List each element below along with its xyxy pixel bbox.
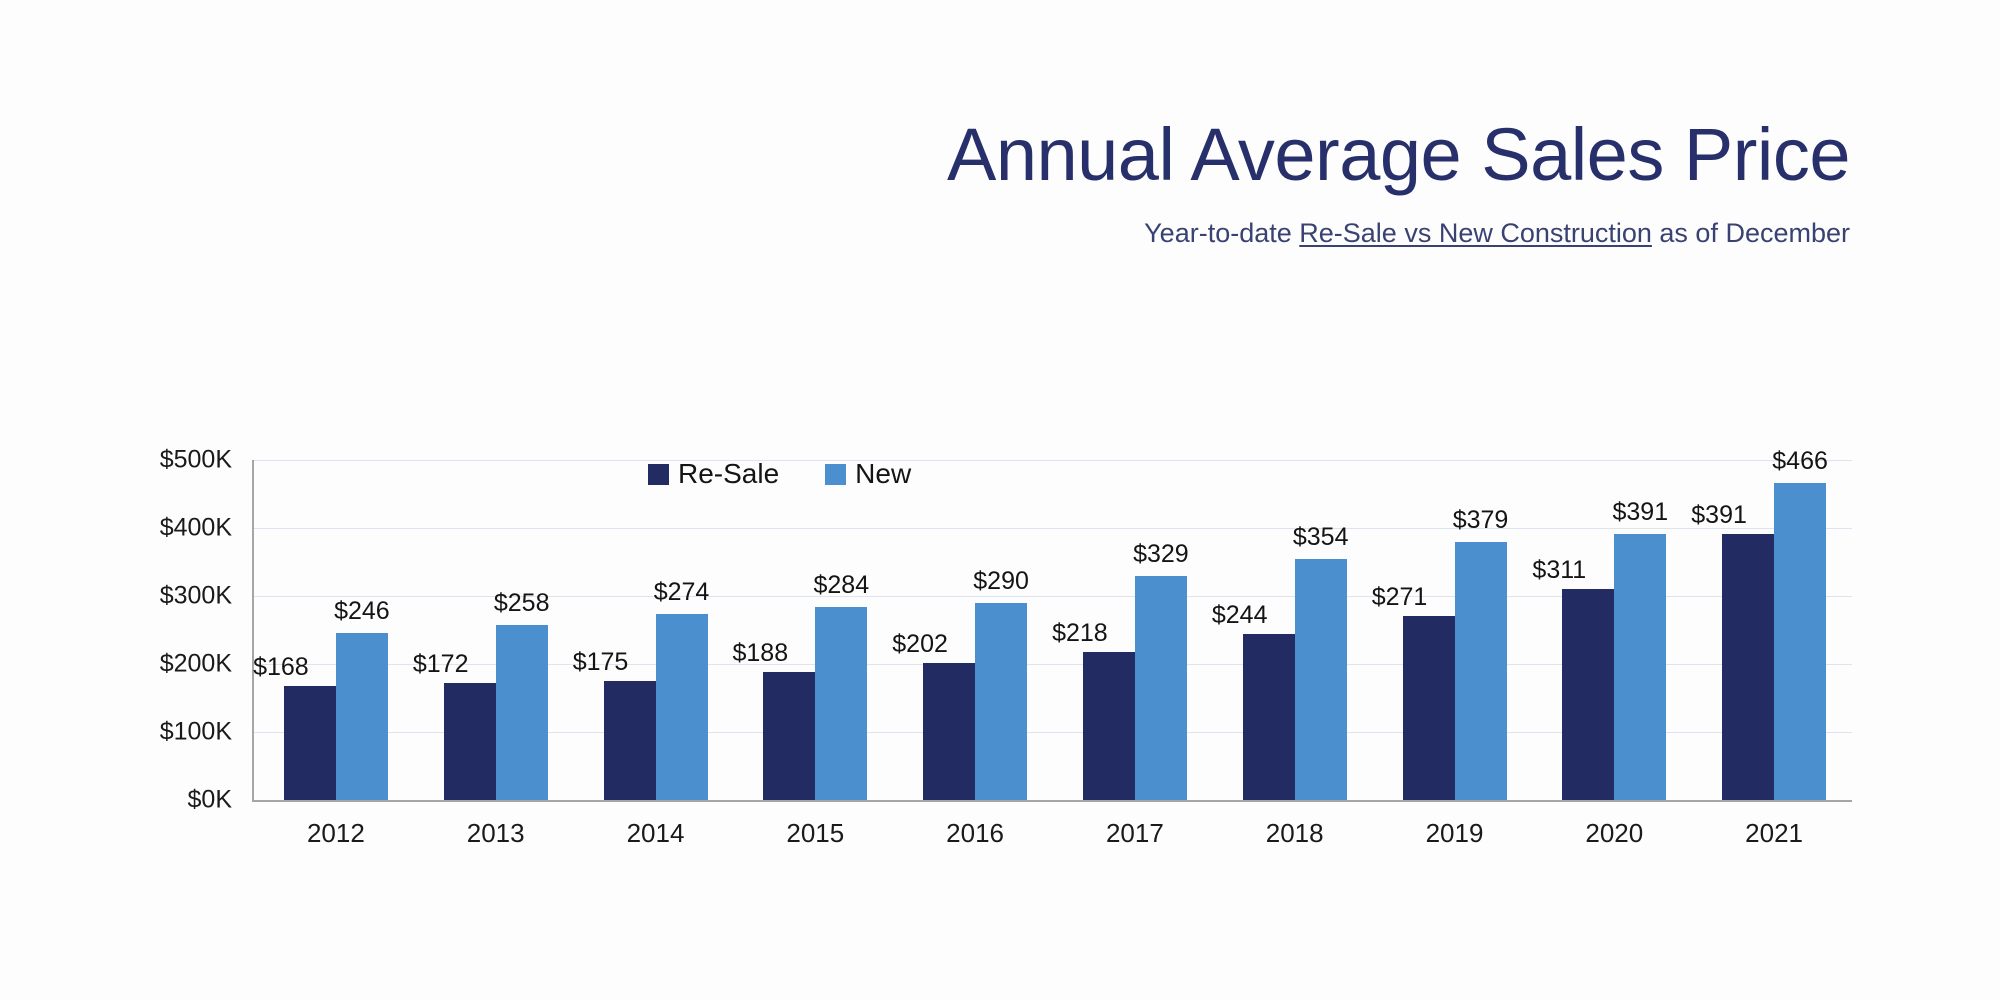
bar-group xyxy=(763,460,867,800)
bar-new[interactable] xyxy=(1614,534,1666,800)
bar-resale[interactable] xyxy=(444,683,496,800)
bar-value-label-resale: $172 xyxy=(413,650,469,679)
bar-new[interactable] xyxy=(815,607,867,800)
y-axis-tick-label: $400K xyxy=(160,514,232,543)
bar-new[interactable] xyxy=(1455,542,1507,800)
bar-value-label-resale: $188 xyxy=(732,639,788,668)
x-axis-tick-label: 2017 xyxy=(1106,818,1164,849)
y-axis-tick-label: $500K xyxy=(160,446,232,475)
y-axis-tick-label: $0K xyxy=(188,786,232,815)
bar-value-label-new: $246 xyxy=(334,597,390,626)
bar-value-label-new: $274 xyxy=(654,578,710,607)
bar-value-label-new: $258 xyxy=(494,589,550,618)
bar-value-label-resale: $311 xyxy=(1532,556,1586,585)
x-axis-tick-label: 2018 xyxy=(1266,818,1324,849)
x-axis-tick-label: 2020 xyxy=(1585,818,1643,849)
bar-group xyxy=(444,460,548,800)
bar-new[interactable] xyxy=(656,614,708,800)
legend-item-resale[interactable]: Re-Sale xyxy=(648,458,779,490)
x-axis-tick-label: 2013 xyxy=(467,818,525,849)
chart-legend: Re-SaleNew xyxy=(648,458,911,490)
bar-value-label-resale: $202 xyxy=(892,630,948,659)
bar-new[interactable] xyxy=(975,603,1027,800)
bar-new[interactable] xyxy=(336,633,388,800)
bar-resale[interactable] xyxy=(604,681,656,800)
x-axis-tick-label: 2019 xyxy=(1426,818,1484,849)
bar-group xyxy=(284,460,388,800)
bar-new[interactable] xyxy=(1774,483,1826,800)
bar-new[interactable] xyxy=(496,625,548,800)
bar-chart: $168$246$172$258$175$274$188$284$202$290… xyxy=(0,0,2000,1000)
y-axis-tick-label: $300K xyxy=(160,582,232,611)
bar-series-container: $168$246$172$258$175$274$188$284$202$290… xyxy=(252,460,1850,800)
bar-value-label-new: $466 xyxy=(1772,447,1828,476)
bar-value-label-resale: $271 xyxy=(1372,583,1428,612)
bar-value-label-resale: $168 xyxy=(253,653,309,682)
bar-group xyxy=(604,460,708,800)
bar-value-label-new: $354 xyxy=(1293,523,1349,552)
x-axis-tick-label: 2021 xyxy=(1745,818,1803,849)
legend-item-new[interactable]: New xyxy=(825,458,911,490)
legend-label: Re-Sale xyxy=(678,458,779,490)
x-axis-tick-label: 2014 xyxy=(627,818,685,849)
bar-resale[interactable] xyxy=(1722,534,1774,800)
bar-resale[interactable] xyxy=(923,663,975,800)
bar-resale[interactable] xyxy=(763,672,815,800)
x-axis-tick-label: 2012 xyxy=(307,818,365,849)
bar-value-label-new: $379 xyxy=(1453,506,1509,535)
bar-value-label-resale: $244 xyxy=(1212,601,1268,630)
legend-swatch-icon xyxy=(648,464,669,485)
x-axis-tick-label: 2016 xyxy=(946,818,1004,849)
bar-value-label-resale: $391 xyxy=(1691,501,1747,530)
x-axis-tick-label: 2015 xyxy=(786,818,844,849)
bar-value-label-new: $391 xyxy=(1612,498,1668,527)
y-axis-tick-label: $100K xyxy=(160,718,232,747)
bar-resale[interactable] xyxy=(1243,634,1295,800)
bar-new[interactable] xyxy=(1295,559,1347,800)
bar-value-label-new: $284 xyxy=(813,571,869,600)
bar-resale[interactable] xyxy=(1083,652,1135,800)
bar-value-label-resale: $218 xyxy=(1052,619,1108,648)
bar-value-label-new: $329 xyxy=(1133,540,1189,569)
bar-new[interactable] xyxy=(1135,576,1187,800)
bar-resale[interactable] xyxy=(284,686,336,800)
y-axis-tick-label: $200K xyxy=(160,650,232,679)
bar-value-label-resale: $175 xyxy=(573,648,629,677)
legend-label: New xyxy=(855,458,911,490)
bar-value-label-new: $290 xyxy=(973,567,1029,596)
legend-swatch-icon xyxy=(825,464,846,485)
bar-resale[interactable] xyxy=(1403,616,1455,800)
bar-resale[interactable] xyxy=(1562,589,1614,800)
